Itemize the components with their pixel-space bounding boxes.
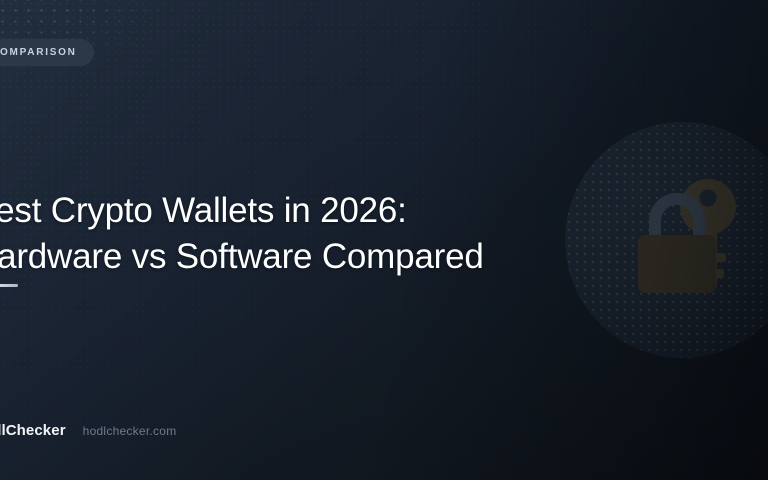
- hero-card: COMPARISON Best Crypto Wallets in 2026: …: [0, 0, 768, 480]
- page-title-line-1: Best Crypto Wallets in 2026:: [0, 188, 592, 234]
- emblem-dot-texture: [565, 122, 768, 358]
- category-badge: COMPARISON: [0, 39, 94, 66]
- title-divider: [0, 284, 18, 287]
- brand-url: hodlchecker.com: [83, 424, 177, 438]
- emblem: [565, 122, 768, 358]
- lock-and-key-icon: [608, 165, 758, 315]
- page-title-line-2: Hardware vs Software Compared: [0, 234, 592, 280]
- emblem-disc: [565, 122, 768, 358]
- lock-body-icon: [638, 235, 716, 293]
- lock-shackle-icon: [655, 199, 699, 239]
- content-column: COMPARISON Best Crypto Wallets in 2026: …: [0, 0, 592, 480]
- brand-name: HodlChecker: [0, 422, 66, 439]
- footer-branding: HodlChecker hodlchecker.com: [0, 422, 176, 439]
- key-icon: [680, 179, 736, 289]
- page-title: Best Crypto Wallets in 2026: Hardware vs…: [0, 188, 592, 280]
